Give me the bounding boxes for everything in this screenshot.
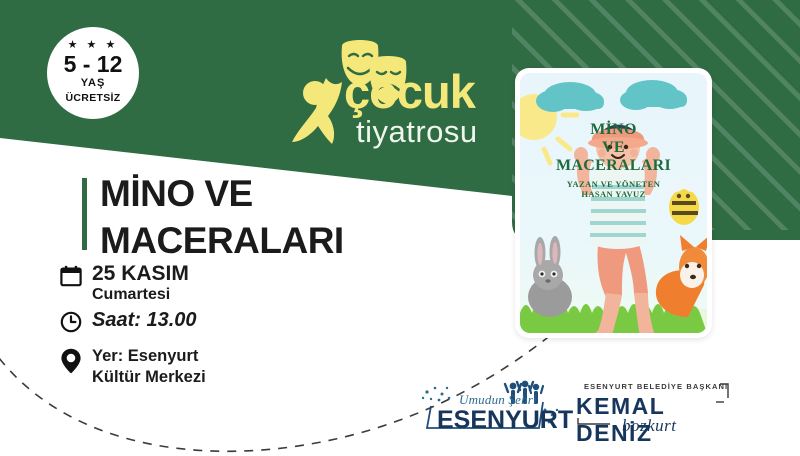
calendar-icon: [60, 263, 92, 292]
place-row: Yer: Esenyurt Kültür Merkezi: [60, 346, 340, 389]
title-accent-bar: [82, 178, 87, 250]
badge-age-range: 5 - 12: [64, 53, 123, 76]
poster-title-line-2: VE: [520, 139, 707, 157]
poster-credits: YAZAN VE YÖNETEN HASAN YAVUZ: [520, 179, 707, 200]
logo-subtitle: tiyatrosu: [356, 116, 478, 147]
event-day: Cumartesi: [92, 285, 340, 305]
dancing-figure-icon: [292, 78, 342, 144]
badge-age-label: YAŞ: [81, 76, 106, 91]
age-badge: ★ ★ ★ 5 - 12 YAŞ ÜCRETSİZ: [47, 27, 139, 119]
event-time: Saat: 13.00: [92, 309, 340, 331]
mayor-surname-signature: bozkurt: [622, 416, 677, 436]
event-details: 25 KASIM Cumartesi Saat: 13.00: [60, 265, 340, 391]
cocuk-tiyatrosu-logo: çocuk tiyatrosu: [288, 38, 498, 153]
event-place-line-2: Kültür Merkezi: [92, 367, 340, 388]
date-row: 25 KASIM Cumartesi: [60, 263, 340, 305]
esenyurt-municipality-logo: Umudun Şehri ESENYURT: [415, 378, 565, 440]
clock-icon: [60, 309, 92, 338]
play-poster-card: MİNO VE MACERALARI YAZAN VE YÖNETEN HASA…: [515, 68, 712, 338]
event-date: 25 KASIM: [92, 263, 340, 285]
location-pin-icon: [60, 346, 92, 379]
time-row: Saat: 13.00: [60, 309, 340, 338]
mayor-logo: ESENYURT BELEDİYE BAŞKANI KEMAL DENİZ bo…: [570, 378, 745, 440]
title-line-1: MİNO VE: [100, 170, 344, 217]
poster-title-line-3: MACERALARI: [520, 157, 707, 175]
badge-stars: ★ ★ ★: [68, 40, 119, 51]
poster-title: MİNO VE MACERALARI: [520, 121, 707, 175]
logo-title: çocuk: [344, 68, 475, 115]
rabbit-icon: [528, 236, 572, 317]
esenyurt-name: ESENYURT: [437, 406, 573, 435]
poster-title-line-1: MİNO: [520, 121, 707, 139]
event-poster: ★ ★ ★ 5 - 12 YAŞ ÜCRETSİZ: [0, 0, 800, 456]
fox-icon: [656, 235, 707, 317]
mayor-title: ESENYURT BELEDİYE BAŞKANI: [584, 382, 728, 391]
poster-credits-line-1: YAZAN VE YÖNETEN: [520, 179, 707, 189]
title-line-2: MACERALARI: [100, 217, 344, 264]
cloud-icon-2: [620, 80, 687, 110]
poster-illustration: [520, 73, 707, 333]
event-place-line-1: Yer: Esenyurt: [92, 346, 340, 367]
play-poster-artwork: MİNO VE MACERALARI YAZAN VE YÖNETEN HASA…: [520, 73, 707, 333]
cloud-icon: [536, 82, 604, 112]
page-title: MİNO VE MACERALARI: [100, 170, 344, 265]
poster-credits-line-2: HASAN YAVUZ: [520, 189, 707, 199]
badge-free-label: ÜCRETSİZ: [66, 92, 121, 106]
